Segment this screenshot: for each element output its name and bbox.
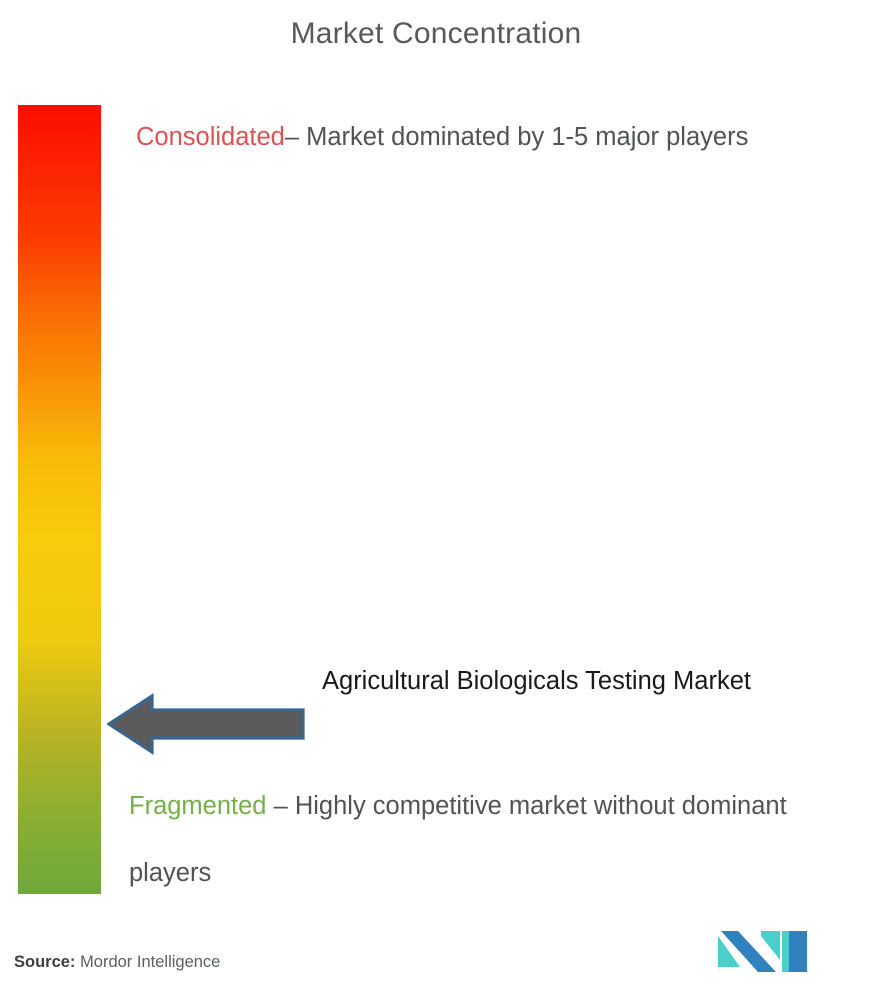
consolidated-description: – Market dominated by 1-5 major players bbox=[285, 123, 748, 151]
source-label: Source: bbox=[14, 953, 75, 971]
source-value: Mordor Intelligence bbox=[80, 953, 220, 971]
fragmented-keyword: Fragmented bbox=[129, 792, 267, 820]
concentration-gradient-scale bbox=[18, 105, 101, 894]
market-concentration-infographic: Market Concentration Consolidated– Marke… bbox=[0, 0, 872, 999]
left-arrow-icon bbox=[107, 693, 305, 755]
consolidated-annotation: Consolidated– Market dominated by 1-5 ma… bbox=[136, 104, 816, 171]
fragmented-annotation: Fragmented – Highly competitive market w… bbox=[129, 773, 819, 907]
source-credit: Source: Mordor Intelligence bbox=[14, 953, 220, 972]
market-marker-label: Agricultural Biologicals Testing Market bbox=[322, 659, 822, 704]
mordor-intelligence-logo bbox=[718, 926, 810, 978]
page-title: Market Concentration bbox=[0, 17, 872, 51]
consolidated-keyword: Consolidated bbox=[136, 123, 285, 151]
